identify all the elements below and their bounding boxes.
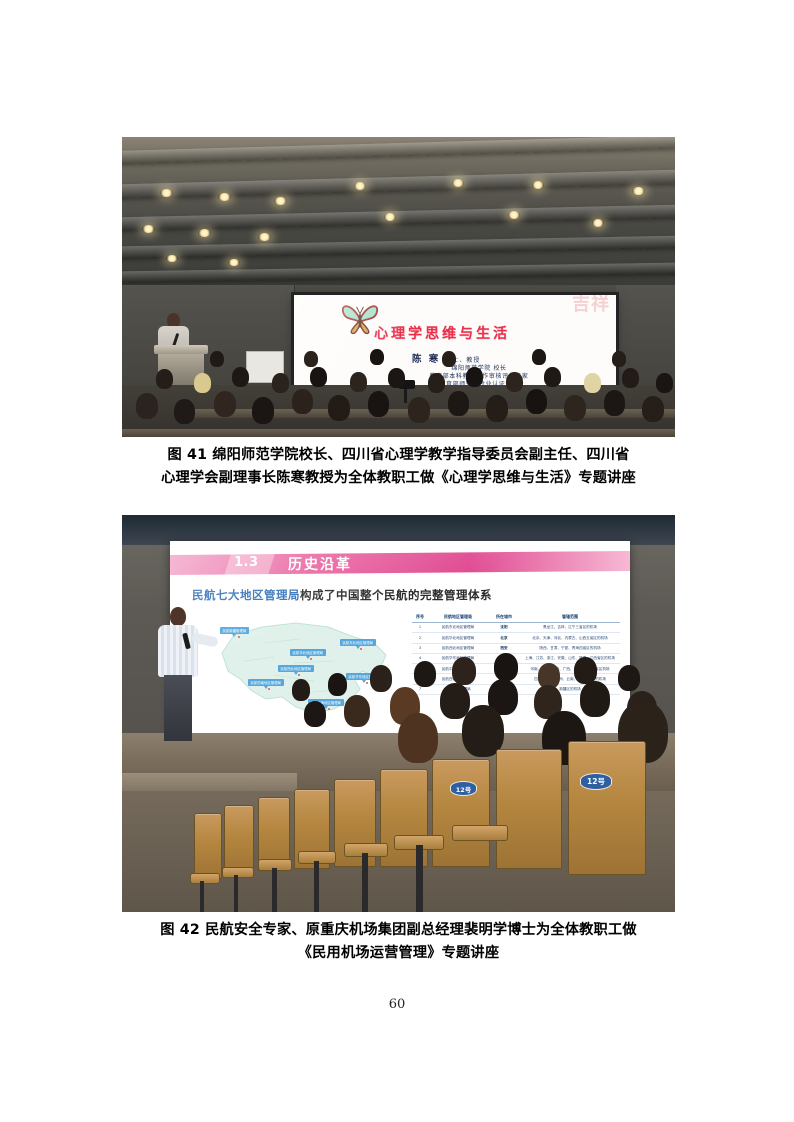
ceiling-light [452, 179, 464, 187]
audience-head [174, 399, 195, 424]
caption-line: 《民用机场运营管理》专题讲座 [122, 942, 675, 965]
map-pin: 民航东北地区管理局 [340, 639, 376, 646]
table-row: 1 民航东北地区管理局 沈阳 黑龙江、吉林、辽宁三省区的机场 [412, 623, 620, 633]
presenter-name: 陈 寒 [412, 354, 440, 365]
table-row: 2 民航华北地区管理局 北京 北京、天津、河北、内蒙古、山西五省区的机场 [412, 633, 620, 643]
seat-row-tag: 12号 [580, 773, 612, 790]
figure-42-caption: 图 42 民航安全专家、原重庆机场集团副总经理裴明学博士为全体教职工做 《民用机… [122, 912, 675, 965]
audience-head [526, 389, 547, 414]
audience-head [574, 657, 597, 684]
speaker-body [158, 625, 198, 677]
seat-armrest [222, 867, 254, 878]
figure-41-block: 吉祥 心理学思维与生活 陈 寒博士、教授 绵阳师范学院 校长 教育部本科教学工作… [122, 137, 675, 490]
ceiling-light [198, 229, 211, 237]
map-pin-dot [366, 682, 368, 684]
cell-index: 2 [412, 633, 428, 643]
audience-head [612, 351, 626, 367]
audience-head [448, 391, 469, 416]
table-header-cell: 序号 [412, 611, 428, 623]
cell-scope: 陕西、甘肃、宁夏、青海四省区的机场 [520, 643, 620, 653]
ceiling-light [384, 213, 396, 221]
seat-row-tag: 12号 [450, 781, 477, 796]
seat-leg [234, 875, 238, 912]
table-row: 3 民航西北地区管理局 西安 陕西、甘肃、宁夏、青海四省区的机场 [412, 643, 620, 653]
audience-head [304, 351, 318, 367]
section-title: 历史沿革 [288, 554, 352, 574]
photo-aviation-lecture: 1.3 历史沿革 民航七大地区管理局构成了中国整个民航的完整管理体系 民航新疆管… [122, 515, 675, 912]
audience-head [136, 393, 158, 419]
seat-leg [200, 881, 204, 912]
audience-head [506, 372, 523, 392]
audience-head [304, 701, 326, 727]
ceiling-light [592, 219, 604, 227]
cell-city: 北京 [488, 633, 520, 643]
map-pin-dot [360, 648, 362, 650]
seat-leg [272, 868, 277, 912]
table-header-cell: 民航地区管理局 [428, 611, 488, 623]
audience-head [368, 391, 389, 417]
seat-leg [416, 845, 423, 912]
cell-bureau: 民航东北地区管理局 [428, 623, 488, 633]
seat-row-bar [122, 429, 675, 437]
figure-41-caption: 图 41 绵阳师范学院校长、四川省心理学教学指导委员会副主任、四川省 心理学会副… [122, 437, 675, 490]
audience-head [618, 665, 640, 691]
audience-head [272, 373, 289, 393]
audience-head [388, 368, 405, 388]
lecture-seat [194, 813, 222, 879]
subtitle-rest: 构成了中国整个民航的完整管理体系 [300, 588, 492, 602]
audience-head [466, 367, 483, 387]
audience-head [194, 373, 211, 393]
table-header-row: 序号 民航地区管理局 所在城市 管辖范围 [412, 611, 620, 623]
audience-head [494, 653, 518, 681]
lecture-seat [432, 759, 490, 867]
audience-head [370, 665, 392, 692]
audience-head [544, 367, 561, 387]
cell-bureau: 民航西北地区管理局 [428, 643, 488, 653]
table-header-cell: 管辖范围 [520, 611, 620, 623]
caption-line: 心理学会副理事长陈寒教授为全体教职工做《心理学思维与生活》专题讲座 [122, 467, 675, 490]
audience-head [452, 657, 476, 685]
audience-head [252, 397, 274, 424]
lecture-seat [496, 749, 562, 869]
ceiling-light [354, 182, 366, 190]
audience-head [532, 349, 546, 365]
lecture-seat [224, 805, 254, 875]
map-pin: 民航西南地区管理局 [248, 679, 284, 686]
ceiling-light [508, 211, 520, 219]
map-pin-dot [328, 708, 330, 710]
caption-line: 图 41 绵阳师范学院校长、四川省心理学教学指导委员会副主任、四川省 [122, 444, 675, 467]
ceiling-light [632, 187, 645, 195]
audience-head [656, 373, 673, 393]
audience-head [310, 367, 327, 387]
map-pin: 民航华北地区管理局 [290, 649, 326, 656]
audience-head [344, 695, 370, 727]
map-pin-dot [268, 688, 270, 690]
audience-head [442, 351, 456, 367]
page-number: 60 [0, 997, 794, 1012]
slide-watermark: 吉祥 [572, 297, 610, 312]
ceiling-light [532, 181, 544, 189]
audience-head [604, 390, 625, 416]
audience-head [584, 373, 601, 393]
ceiling-light [142, 225, 155, 233]
audience-head [292, 389, 313, 414]
cell-scope: 四川、重庆、贵州、云南、西藏五省区的机场 [520, 674, 620, 684]
cell-scope: 黑龙江、吉林、辽宁三省区的机场 [520, 623, 620, 633]
ceiling-light [258, 233, 271, 241]
slide-subtitle: 民航七大地区管理局构成了中国整个民航的完整管理体系 [192, 587, 492, 603]
section-number: 1.3 [234, 555, 259, 570]
seat-leg [314, 861, 319, 912]
seat-armrest [190, 873, 220, 884]
audience-head [328, 395, 350, 421]
photo-psychology-lecture: 吉祥 心理学思维与生活 陈 寒博士、教授 绵阳师范学院 校长 教育部本科教学工作… [122, 137, 675, 437]
cell-scope: 河南、湖北、湖南、广西、广东、海南六省区机场 [520, 664, 620, 674]
ceiling-light [274, 197, 287, 205]
audience-head [580, 681, 610, 717]
lecture-seat [568, 741, 646, 875]
slide-title: 心理学思维与生活 [374, 323, 510, 343]
cell-scope: 北京、天津、河北、内蒙古、山西五省区的机场 [520, 633, 620, 643]
audience-head [232, 367, 249, 387]
audience-head [350, 372, 367, 392]
audience-head [156, 369, 173, 389]
map-pin: 民航西北地区管理局 [278, 665, 314, 672]
audience-head [408, 397, 430, 423]
audience-head [210, 351, 224, 367]
map-pin-dot [238, 636, 240, 638]
audience-head [622, 368, 639, 388]
document-page: 吉祥 心理学思维与生活 陈 寒博士、教授 绵阳师范学院 校长 教育部本科教学工作… [0, 0, 794, 1122]
audience-head [214, 391, 236, 417]
audience-head [642, 396, 664, 422]
audience-head [328, 673, 347, 696]
subtitle-highlight: 民航七大地区管理局 [192, 588, 300, 602]
ceiling-light [166, 255, 178, 262]
speaker-head [170, 607, 186, 626]
seat-leg [362, 853, 368, 912]
ceiling-light [218, 193, 231, 201]
speaker-legs [164, 675, 192, 741]
cell-index: 1 [412, 623, 428, 633]
audience-head [398, 713, 438, 763]
ceiling-light [160, 189, 173, 197]
audience-head [564, 395, 586, 421]
figure-42-block: 1.3 历史沿革 民航七大地区管理局构成了中国整个民航的完整管理体系 民航新疆管… [122, 515, 675, 965]
seat-armrest [452, 825, 508, 841]
table-header-cell: 所在城市 [488, 611, 520, 623]
audience-head [370, 349, 384, 365]
map-pin-dot [310, 658, 312, 660]
map-pin: 民航新疆管理局 [220, 627, 249, 634]
cell-bureau: 民航华北地区管理局 [428, 633, 488, 643]
audience-head [414, 661, 436, 687]
audience-head [292, 679, 310, 701]
cell-scope: 上海、江苏、浙江、安徽、山东、福建、江西省区的机场 [520, 653, 620, 663]
cell-city: 西安 [488, 643, 520, 653]
map-pin-dot [298, 674, 300, 676]
ceiling-light [228, 259, 240, 266]
caption-line: 图 42 民航安全专家、原重庆机场集团副总经理裴明学博士为全体教职工做 [122, 919, 675, 942]
audience-head [428, 373, 445, 393]
cell-city: 沈阳 [488, 623, 520, 633]
audience-head [486, 395, 508, 422]
cell-index: 3 [412, 643, 428, 653]
